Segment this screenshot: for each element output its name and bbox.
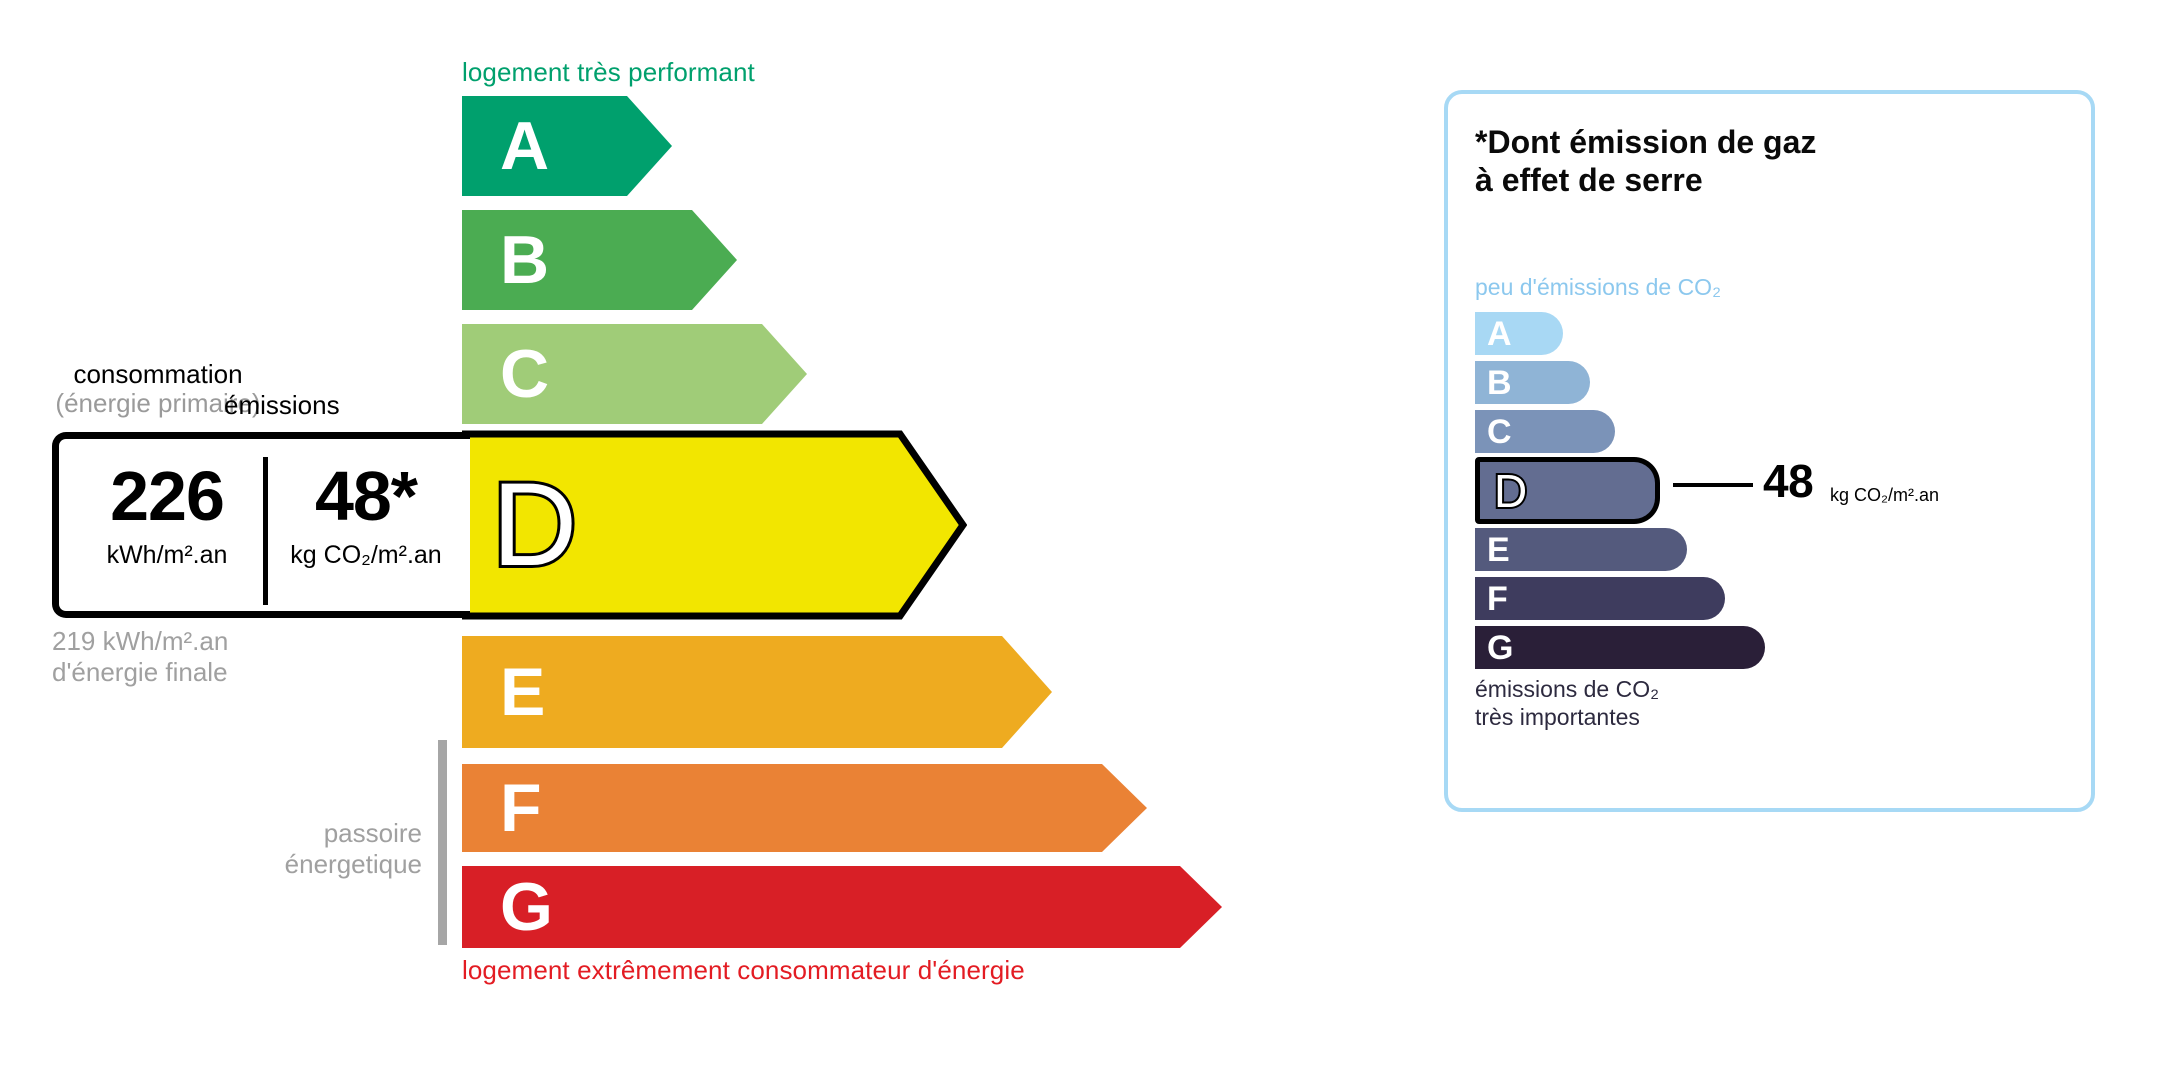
co2-callout-value: 48 xyxy=(1763,458,1813,504)
co2-band-d-letter: D xyxy=(1494,468,1527,514)
passoire-label-line2: énergetique xyxy=(150,849,422,880)
energy-band-e-shape xyxy=(462,636,1052,748)
co2-band-a-letter: A xyxy=(1487,317,1512,351)
co2-band-b-letter: B xyxy=(1487,366,1512,400)
energy-band-f-letter: F xyxy=(500,774,542,842)
energy-band-e[interactable]: E xyxy=(462,636,1052,748)
consumption-header-line1: consommation xyxy=(73,359,242,389)
emissions-header: émissions xyxy=(224,391,340,420)
value-box-divider xyxy=(263,457,268,605)
final-energy-note: 219 kWh/m².an d'énergie finale xyxy=(52,626,228,687)
co2-emissions-panel: *Dont émission de gaz à effet de serre p… xyxy=(1444,90,2095,812)
energy-bottom-caption: logement extrêmement consommateur d'éner… xyxy=(462,955,1025,986)
energy-band-f-shape xyxy=(462,764,1147,852)
co2-bottom-caption: émissions de CO₂ très importantes xyxy=(1475,676,1659,731)
co2-band-f[interactable]: F xyxy=(1475,577,1725,620)
co2-band-g[interactable]: G xyxy=(1475,626,1765,669)
energy-band-a-shape xyxy=(462,96,672,196)
co2-band-f-letter: F xyxy=(1487,582,1508,616)
energy-band-f[interactable]: F xyxy=(462,764,1147,852)
emission-unit: kg CO₂/m².an xyxy=(271,542,461,570)
consumption-value: 226 xyxy=(69,461,265,531)
co2-band-b[interactable]: B xyxy=(1475,361,1590,404)
co2-band-d-selected[interactable]: D xyxy=(1475,457,1660,524)
energy-band-e-letter: E xyxy=(500,658,545,726)
value-box: 226 kWh/m².an 48* kg CO₂/m².an xyxy=(52,432,470,618)
energy-band-c[interactable]: C xyxy=(462,324,807,424)
consumption-unit: kWh/m².an xyxy=(69,542,265,570)
co2-callout-unit: kg CO₂/m².an xyxy=(1830,486,1939,504)
co2-panel-title: *Dont émission de gaz à effet de serre xyxy=(1475,124,1816,200)
co2-callout-leader-line xyxy=(1673,483,1753,487)
energy-band-g[interactable]: G xyxy=(462,866,1222,948)
final-energy-line1: 219 kWh/m².an xyxy=(52,626,228,657)
co2-band-c-letter: C xyxy=(1487,415,1512,449)
energy-band-b[interactable]: B xyxy=(462,210,737,310)
energy-band-d-selected[interactable]: D xyxy=(462,430,967,620)
co2-band-a[interactable]: A xyxy=(1475,312,1563,355)
energy-band-c-letter: C xyxy=(500,340,549,408)
energy-band-g-letter: G xyxy=(500,873,553,941)
emission-value: 48* xyxy=(271,461,461,531)
energy-band-b-letter: B xyxy=(500,226,549,294)
co2-band-g-letter: G xyxy=(1487,631,1513,665)
energy-performance-diagram: logement très performant A B C D E xyxy=(0,0,1400,1079)
energy-top-caption: logement très performant xyxy=(462,57,755,88)
co2-band-e[interactable]: E xyxy=(1475,528,1687,571)
co2-band-c[interactable]: C xyxy=(1475,410,1615,453)
final-energy-line2: d'énergie finale xyxy=(52,657,228,688)
passoire-label-line1: passoire xyxy=(150,818,422,849)
co2-band-e-letter: E xyxy=(1487,533,1510,567)
energy-band-d-letter: D xyxy=(492,466,577,584)
passoire-marker-bar xyxy=(438,740,447,945)
energy-band-a[interactable]: A xyxy=(462,96,672,196)
energy-band-g-shape xyxy=(462,866,1222,948)
emission-cell: 48* kg CO₂/m².an xyxy=(271,439,461,611)
passoire-label: passoire énergetique xyxy=(150,818,422,879)
co2-top-caption: peu d'émissions de CO₂ xyxy=(1475,274,1721,301)
consumption-cell: 226 kWh/m².an xyxy=(69,439,265,611)
energy-band-a-letter: A xyxy=(500,112,549,180)
